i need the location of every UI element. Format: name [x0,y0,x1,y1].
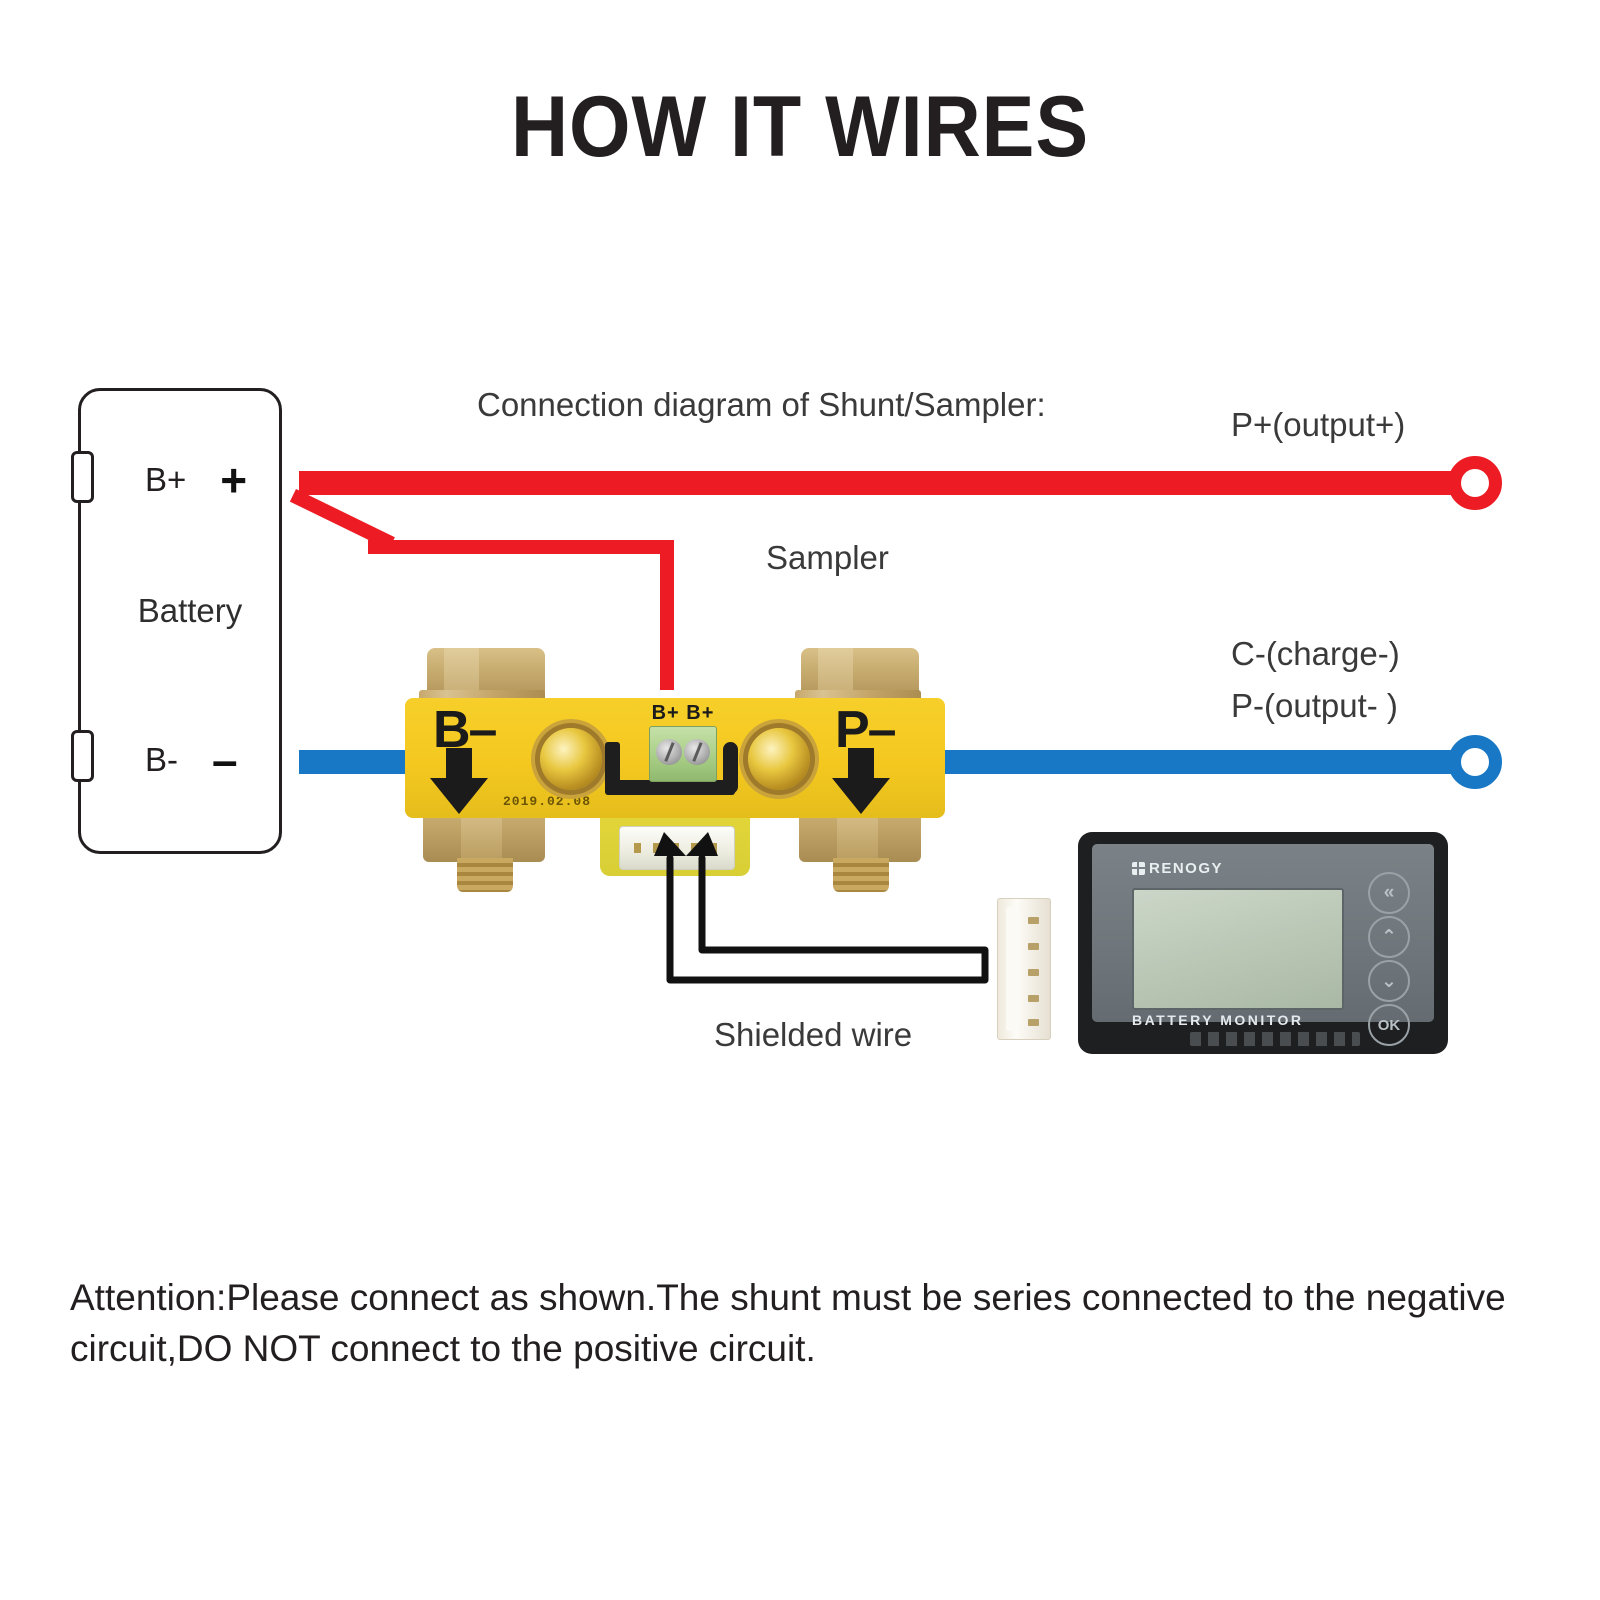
attention-note: Attention:Please connect as shown.The sh… [70,1272,1540,1374]
plus-icon: + [220,462,247,499]
connection-diagram-heading: Connection diagram of Shunt/Sampler: [477,386,1046,424]
monitor-faceplate: RENOGY BATTERY MONITOR « ⌃ ⌄ OK [1092,844,1434,1022]
terminal-block-label: B+ B+ [641,702,725,725]
monitor-lcd-screen [1132,888,1344,1010]
monitor-caption: BATTERY MONITOR [1132,1012,1304,1028]
battery-positive-code: B+ [145,461,186,499]
terminal-screw-1-icon[interactable] [656,739,682,765]
positive-ring-terminal-icon [1448,456,1502,510]
renogy-mark-icon [1132,862,1145,875]
shunt-right-screw-pad-icon [748,728,810,790]
renogy-wordmark: RENOGY [1149,860,1223,877]
positive-wire [299,471,1474,495]
battery-name-label: Battery [110,592,270,630]
pcb-date-code: 2019.02.08 [503,794,591,809]
green-terminal-block[interactable] [649,726,717,782]
battery-negative-terminal [71,730,94,782]
shunt-left-screw-pad-icon [540,728,602,790]
charge-negative-label: C-(charge-) [1231,635,1400,673]
battery-negative-code: B- [145,741,178,779]
up-button[interactable]: ⌃ [1368,916,1410,958]
ok-button[interactable]: OK [1368,1004,1410,1046]
pcb-trace-bottom [605,780,735,795]
pcb-trace-right-vertical [723,742,738,794]
negative-ring-terminal-icon [1448,735,1502,789]
sampler-branch-wire-horizontal [368,540,674,554]
minus-icon: – [212,742,238,779]
battery-positive-terminal [71,451,94,503]
battery-negative-row: B- – [145,741,295,779]
output-positive-label: P+(output+) [1231,406,1405,444]
renogy-logo: RENOGY [1132,860,1223,877]
output-negative-label: P-(output- ) [1231,687,1398,725]
monitor-signal-connector[interactable] [997,898,1051,1040]
terminal-screw-2-icon[interactable] [684,739,710,765]
sampler-label: Sampler [766,539,889,577]
page-title: HOW IT WIRES [64,78,1536,177]
back-button[interactable]: « [1368,872,1410,914]
down-button[interactable]: ⌄ [1368,960,1410,1002]
shielded-wire-path [630,830,1050,1045]
battery-positive-row: B+ + [145,461,295,499]
battery-monitor-device: RENOGY BATTERY MONITOR « ⌃ ⌄ OK [1078,832,1448,1054]
monitor-vent-strip [1190,1032,1360,1046]
